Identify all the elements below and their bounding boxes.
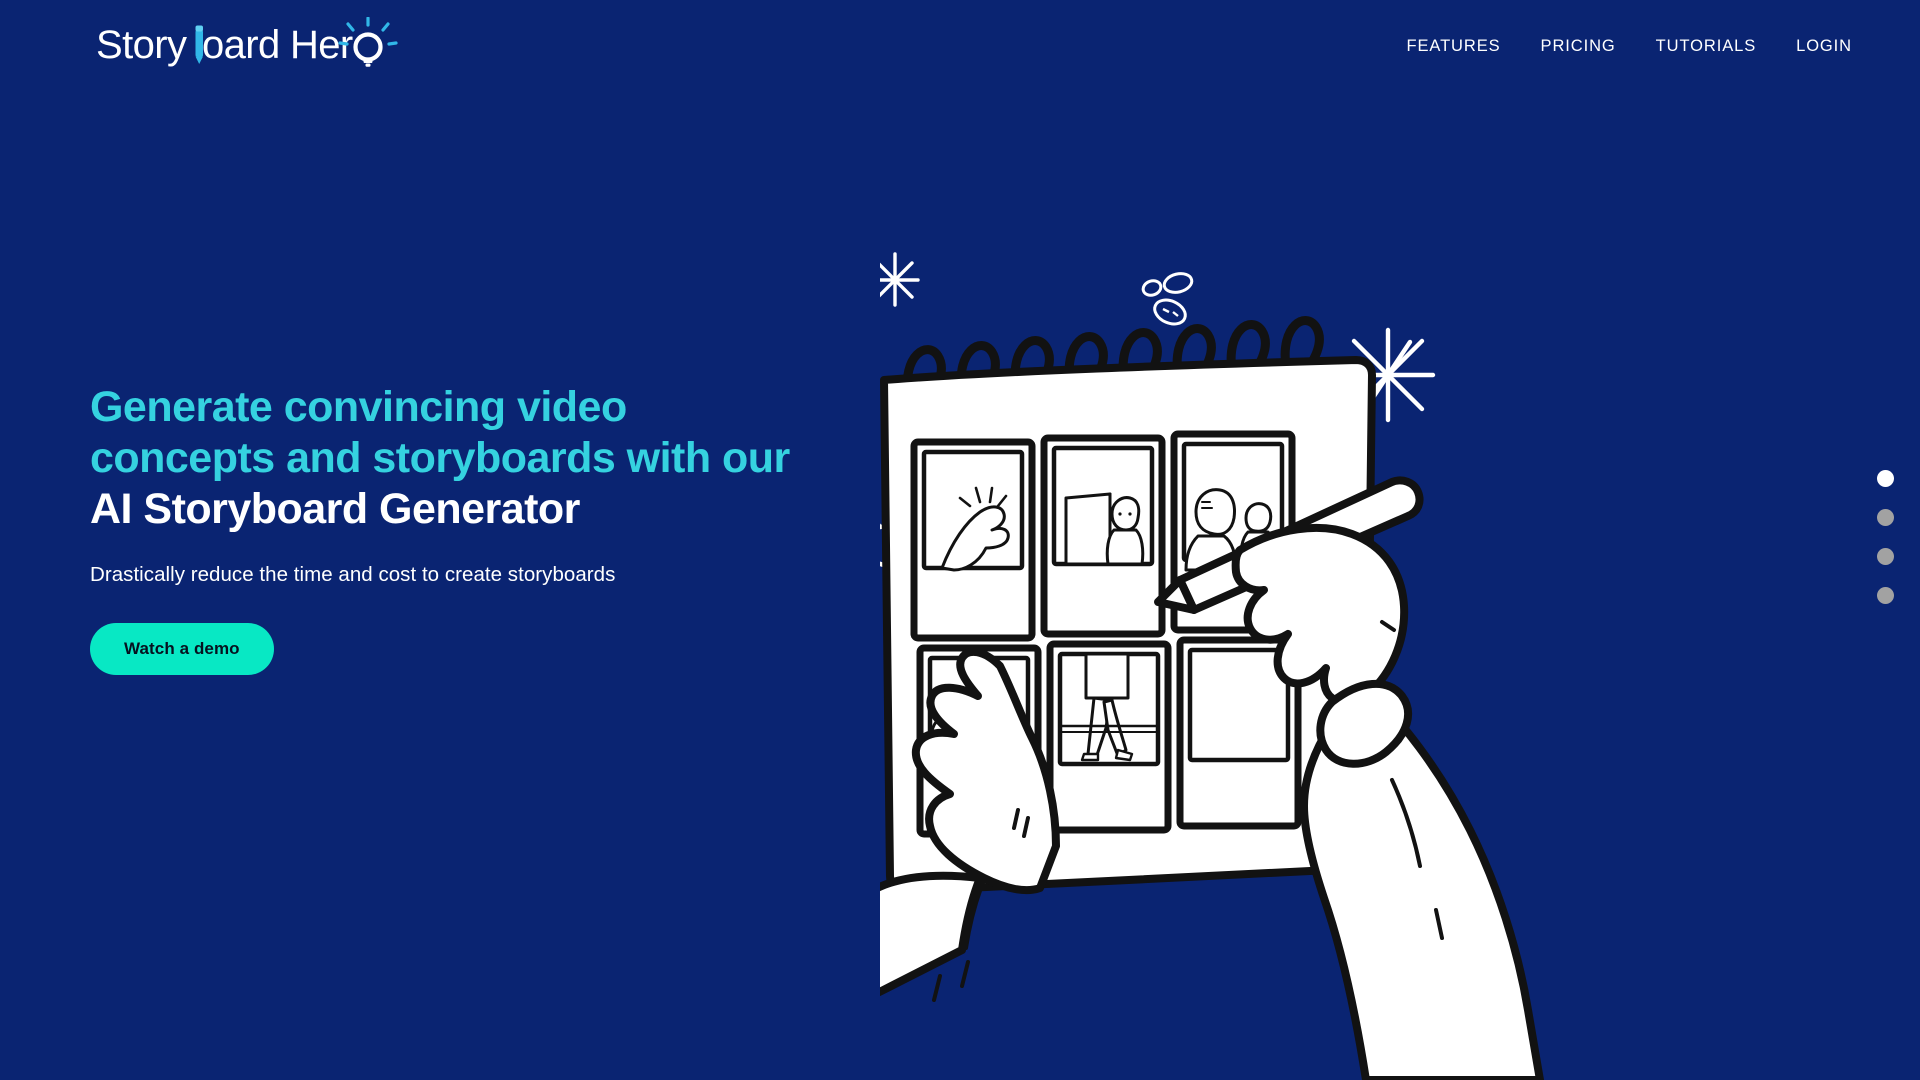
drawing-hand (1158, 480, 1540, 1080)
storyboard-panel-3 (1174, 434, 1292, 630)
storyboard-panel-2 (1044, 438, 1162, 634)
main-navigation: FEATURES PRICING TUTORIALS LOGIN (1386, 27, 1862, 66)
site-logo[interactable]: Story oard Her (96, 16, 426, 76)
site-header: Story oard Her (0, 0, 1920, 92)
hero-illustration (880, 250, 1920, 1080)
sparkle-star-large-icon (1343, 330, 1433, 420)
nav-item-login[interactable]: LOGIN (1776, 27, 1862, 66)
page-title: Generate convincing video concepts and s… (90, 382, 990, 535)
carousel-dot-4[interactable] (1877, 587, 1894, 604)
logo-text-board: oard (202, 23, 280, 67)
carousel-dot-3[interactable] (1877, 548, 1894, 565)
storyboard-panel-6 (1180, 640, 1298, 826)
coins-icon (1141, 271, 1193, 329)
logo-text-story: Story (96, 23, 187, 67)
carousel-pagination (1877, 470, 1894, 604)
holding-hand (880, 652, 1056, 1010)
headline-line-3: AI Storyboard Generator (90, 484, 990, 535)
nav-item-pricing[interactable]: PRICING (1521, 27, 1636, 66)
carousel-dot-2[interactable] (1877, 509, 1894, 526)
nav-item-tutorials[interactable]: TUTORIALS (1636, 27, 1776, 66)
carousel-dot-1[interactable] (1877, 470, 1894, 487)
sparkle-star-small-icon (880, 254, 918, 305)
hero-section: Generate convincing video concepts and s… (90, 382, 990, 675)
nav-item-features[interactable]: FEATURES (1386, 27, 1520, 66)
headline-line-2: concepts and storyboards with our (90, 433, 990, 484)
storyboard-panel-5 (1050, 644, 1168, 830)
hero-subheading: Drastically reduce the time and cost to … (90, 563, 990, 587)
watch-demo-button[interactable]: Watch a demo (90, 623, 274, 675)
storyboard-panel-4 (920, 648, 1038, 834)
headline-line-1: Generate convincing video (90, 382, 990, 433)
